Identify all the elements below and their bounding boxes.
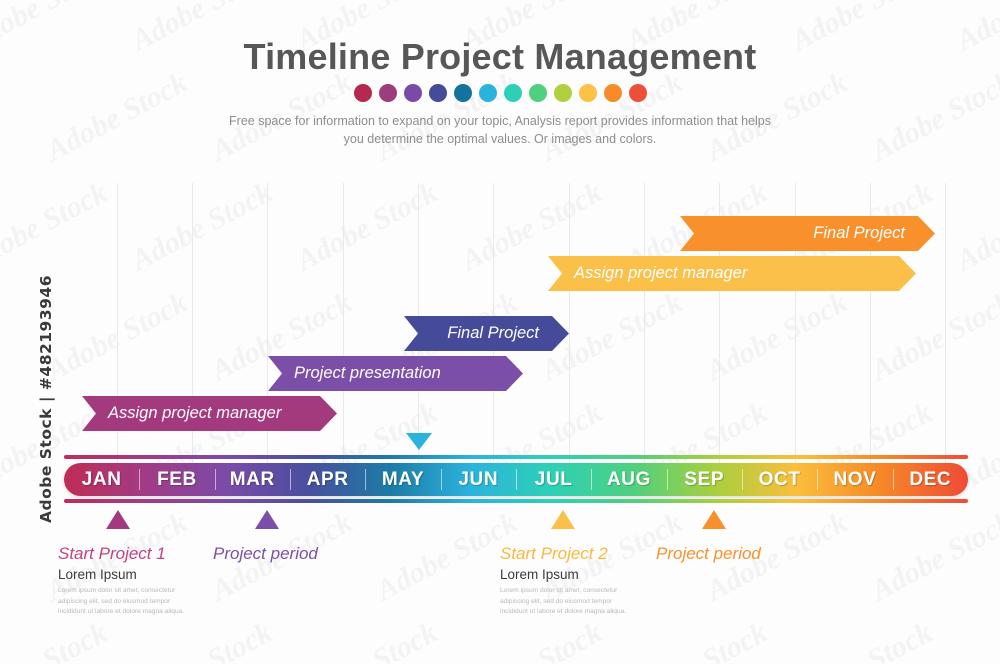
watermark-tile: Adobe Stock <box>951 616 1000 664</box>
month-sep[interactable]: SEP <box>667 463 742 496</box>
month-label: OCT <box>759 469 801 491</box>
gridline-12 <box>945 183 946 468</box>
month-label: APR <box>307 469 349 491</box>
color-dot-7 <box>504 84 522 102</box>
milestone-caret-icon <box>551 510 575 529</box>
milestone-title: Start Project 1 <box>58 544 166 564</box>
task-bar-label: Final Project <box>447 324 539 343</box>
task-bar-2[interactable]: Project presentation <box>268 356 523 391</box>
color-dot-5 <box>454 84 472 102</box>
month-feb[interactable]: FEB <box>139 463 214 496</box>
watermark-tile: Adobe Stock <box>786 616 938 664</box>
month-label: DEC <box>909 469 951 491</box>
gridline-7 <box>569 183 570 468</box>
axis-top-accent-line <box>64 455 968 459</box>
milestone-title: Project period <box>656 544 761 564</box>
page-title: Timeline Project Management <box>0 36 1000 78</box>
milestone-title: Project period <box>213 544 318 564</box>
color-dot-4 <box>429 84 447 102</box>
month-label: JUN <box>458 469 498 491</box>
watermark-tile: Adobe Stock <box>291 616 443 664</box>
month-axis: JANFEBMARAPRMAYJUNJULAUGSEPOCTNOVDEC <box>64 463 968 496</box>
current-period-caret-icon <box>406 433 432 450</box>
month-label: MAR <box>230 469 275 491</box>
month-label: MAY <box>382 469 424 491</box>
color-dot-3 <box>404 84 422 102</box>
color-dot-8 <box>529 84 547 102</box>
color-dot-9 <box>554 84 572 102</box>
task-bar-label: Project presentation <box>294 364 441 383</box>
month-apr[interactable]: APR <box>290 463 365 496</box>
watermark-tile: Adobe Stock <box>456 616 608 664</box>
milestone-caret-icon <box>255 510 279 529</box>
task-bar-label: Assign project manager <box>574 264 747 283</box>
watermark-tile: Adobe Stock <box>866 506 1000 608</box>
page-subtitle: Free space for information to expand on … <box>225 112 775 148</box>
timeline-infographic: Adobe StockAdobe StockAdobe StockAdobe S… <box>0 0 1000 664</box>
axis-bottom-accent-line <box>64 499 968 503</box>
milestone-subtitle: Lorem Ipsum <box>58 567 137 582</box>
month-oct[interactable]: OCT <box>742 463 817 496</box>
month-may[interactable]: MAY <box>365 463 440 496</box>
milestone-caret-icon <box>106 510 130 529</box>
month-mar[interactable]: MAR <box>215 463 290 496</box>
color-dot-1 <box>354 84 372 102</box>
month-nov[interactable]: NOV <box>817 463 892 496</box>
color-dot-6 <box>479 84 497 102</box>
watermark-tile: Adobe Stock <box>126 616 278 664</box>
task-bar-1[interactable]: Assign project manager <box>82 396 337 431</box>
month-label: SEP <box>684 469 724 491</box>
month-label: AUG <box>607 469 651 491</box>
watermark-tile: Adobe Stock <box>41 66 193 168</box>
month-jan[interactable]: JAN <box>64 463 139 496</box>
month-dec[interactable]: DEC <box>893 463 968 496</box>
watermark-tile: Adobe Stock <box>0 616 113 664</box>
month-label: NOV <box>833 469 876 491</box>
task-bar-5[interactable]: Final Project <box>680 216 935 251</box>
milestone-body-text: Lorem ipsum dolor sit amet, consectetur … <box>58 586 186 618</box>
milestone-caret-icon <box>702 510 726 529</box>
adobe-stock-watermark: Adobe Stock | #482193946 <box>37 269 55 529</box>
month-label: JAN <box>82 469 122 491</box>
gridline-8 <box>644 183 645 468</box>
watermark-tile: Adobe Stock <box>866 66 1000 168</box>
milestone-body-text: Lorem ipsum dolor sit amet, consectetur … <box>500 586 628 618</box>
color-dot-12 <box>629 84 647 102</box>
color-dot-2 <box>379 84 397 102</box>
month-aug[interactable]: AUG <box>591 463 666 496</box>
watermark-tile: Adobe Stock <box>621 616 773 664</box>
gridline-4 <box>343 183 344 468</box>
task-bar-label: Final Project <box>813 224 905 243</box>
milestone-title: Start Project 2 <box>500 544 608 564</box>
color-dot-11 <box>604 84 622 102</box>
milestone-subtitle: Lorem Ipsum <box>500 567 579 582</box>
task-bar-4[interactable]: Assign project manager <box>548 256 916 291</box>
color-dots-row <box>0 84 1000 102</box>
task-bar-3[interactable]: Final Project <box>404 316 569 351</box>
month-jun[interactable]: JUN <box>441 463 516 496</box>
task-bar-label: Assign project manager <box>108 404 281 423</box>
month-label: JUL <box>535 469 573 491</box>
month-label: FEB <box>157 469 197 491</box>
color-dot-10 <box>579 84 597 102</box>
month-jul[interactable]: JUL <box>516 463 591 496</box>
